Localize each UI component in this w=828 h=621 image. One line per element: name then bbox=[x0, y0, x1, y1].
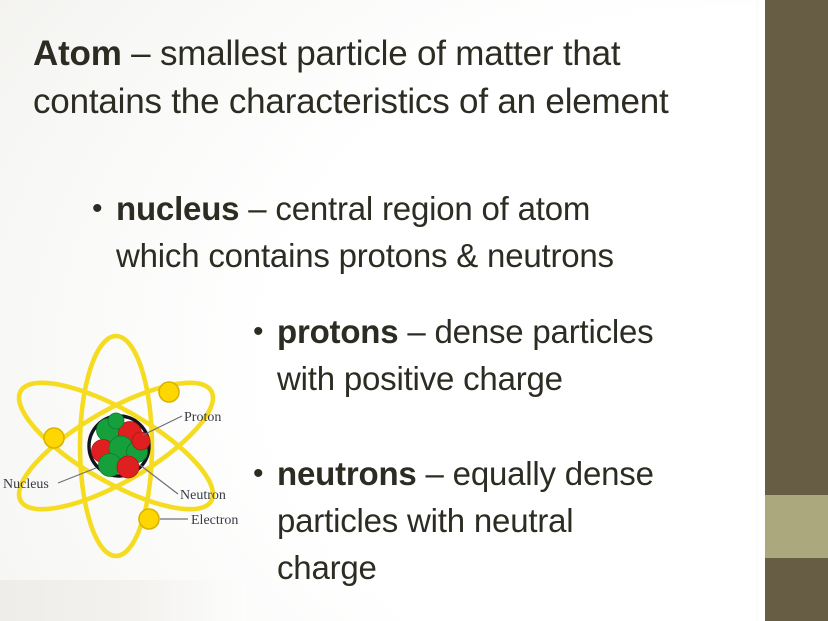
bullet-nucleus-line2: which contains protons & neutrons bbox=[92, 232, 752, 279]
bullet-point-icon: • bbox=[92, 185, 116, 232]
electron-sphere bbox=[44, 428, 64, 448]
leader-line-nucleus bbox=[58, 468, 96, 483]
proton-sphere bbox=[132, 432, 150, 450]
bullet-nucleus-term: nucleus bbox=[116, 190, 239, 227]
atom-label-nucleus: Nucleus bbox=[3, 477, 49, 492]
bullet-neutrons-line2: particles with neutral bbox=[253, 497, 758, 544]
bar-segment-bottom bbox=[765, 558, 828, 621]
bullet-neutrons-rest: – equally dense bbox=[417, 455, 654, 492]
right-decorative-bars bbox=[765, 0, 828, 621]
bullet-neutrons: •neutrons – equally dense particles with… bbox=[253, 450, 758, 591]
bullet-protons-line2: with positive charge bbox=[253, 355, 758, 402]
atom-diagram-image: Proton Neutron Electron Nucleus bbox=[0, 318, 247, 580]
electron-sphere bbox=[139, 509, 159, 529]
bullet-neutrons-line3: charge bbox=[253, 544, 758, 591]
bar-segment-top bbox=[765, 0, 828, 495]
bullet-point-icon: • bbox=[253, 450, 277, 497]
bullet-nucleus-line1: •nucleus – central region of atom bbox=[92, 185, 752, 232]
bullet-nucleus: •nucleus – central region of atom which … bbox=[92, 185, 752, 279]
atom-label-proton: Proton bbox=[184, 410, 221, 425]
neutron-sphere bbox=[108, 413, 124, 429]
bullet-protons-term: protons bbox=[277, 313, 398, 350]
bar-segment-accent bbox=[765, 495, 828, 558]
atom-image-bottom-edge bbox=[0, 580, 247, 621]
bullet-protons: •protons – dense particles with positive… bbox=[253, 308, 758, 402]
bullet-protons-text1: protons – dense particles bbox=[277, 308, 653, 355]
bullet-neutrons-text1: neutrons – equally dense bbox=[277, 450, 654, 497]
bullet-protons-rest: – dense particles bbox=[398, 313, 653, 350]
bullet-nucleus-text1: nucleus – central region of atom bbox=[116, 185, 590, 232]
page-title: Atom – smallest particle of matter that … bbox=[33, 30, 745, 126]
bullet-point-icon: • bbox=[253, 308, 277, 355]
electron-sphere bbox=[159, 382, 179, 402]
atom-label-neutron: Neutron bbox=[180, 488, 226, 503]
bullet-protons-line1: •protons – dense particles bbox=[253, 308, 758, 355]
bullet-neutrons-term: neutrons bbox=[277, 455, 417, 492]
leader-line-neutron bbox=[140, 465, 178, 494]
proton-sphere bbox=[117, 456, 139, 478]
bullet-neutrons-line1: •neutrons – equally dense bbox=[253, 450, 758, 497]
title-lead-term: Atom bbox=[33, 34, 122, 73]
bullet-nucleus-rest: – central region of atom bbox=[239, 190, 590, 227]
slide-canvas: Atom – smallest particle of matter that … bbox=[0, 0, 828, 621]
atom-label-electron: Electron bbox=[191, 513, 238, 528]
title-rest-text: – smallest particle of matter that conta… bbox=[33, 34, 669, 121]
